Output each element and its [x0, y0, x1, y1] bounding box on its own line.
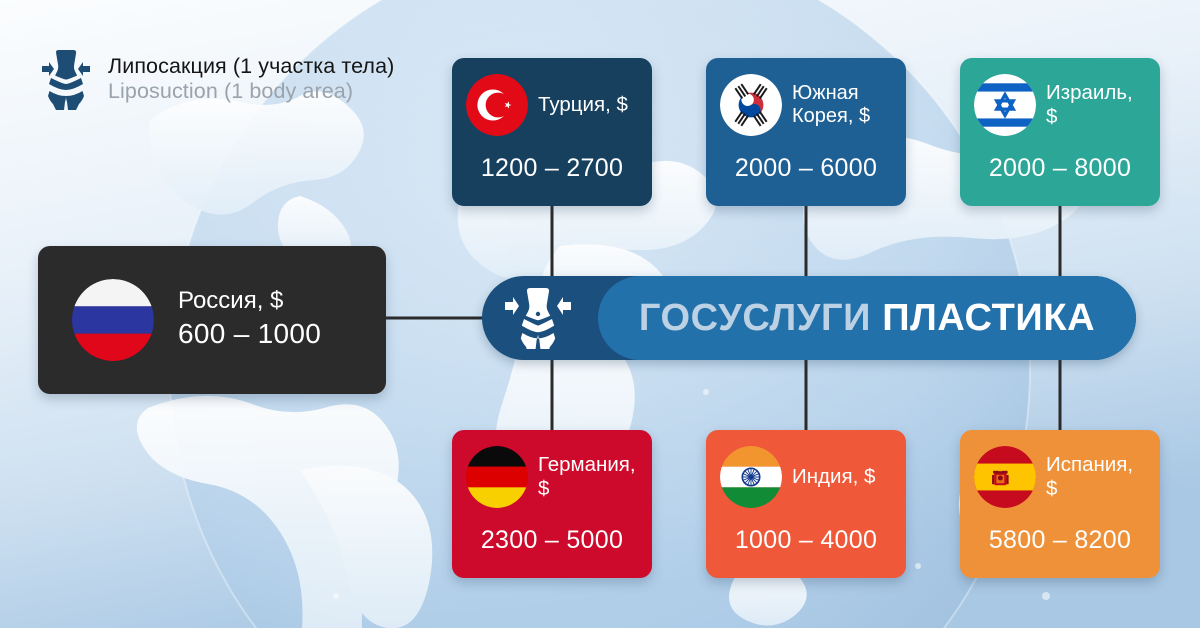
card-country-label: Испания, $ — [1046, 453, 1146, 501]
card-russia[interactable]: Россия, $ 600 – 1000 — [38, 246, 386, 394]
card-spain[interactable]: Испания, $ 5800 – 8200 — [960, 430, 1160, 578]
card-country-label: Турция, $ — [538, 93, 628, 117]
card-price-value: 1000 – 4000 — [720, 526, 892, 555]
card-country-label: Индия, $ — [792, 465, 875, 489]
brand-word-1: ГОСУСЛУГИ — [639, 297, 871, 339]
card-price-value: 2300 – 5000 — [466, 526, 638, 555]
card-price-value: 5800 – 8200 — [974, 526, 1146, 555]
card-price-value: 2000 – 6000 — [720, 154, 892, 183]
card-turkey[interactable]: Турция, $ 1200 – 2700 — [452, 58, 652, 206]
card-price-value: 600 – 1000 — [178, 315, 321, 353]
card-country-label: Германия, $ — [538, 453, 638, 501]
liposuction-body-icon — [38, 48, 94, 110]
flag-israel-icon — [974, 74, 1036, 136]
card-price-value: 2000 – 8000 — [974, 154, 1146, 183]
flag-india-icon — [720, 446, 782, 508]
flag-turkey-icon — [466, 74, 528, 136]
brand-word-2: ПЛАСТИКА — [882, 297, 1095, 339]
banner-light-plate: ГОСУСЛУГИ ПЛАСТИКА — [598, 276, 1136, 360]
brand-title: ГОСУСЛУГИ ПЛАСТИКА — [639, 297, 1095, 340]
card-country-label: Южная Корея, $ — [792, 82, 870, 128]
brand-banner[interactable]: ГОСУСЛУГИ ПЛАСТИКА — [482, 276, 1136, 360]
card-header: Израиль, $ — [974, 74, 1146, 136]
card-germany[interactable]: Германия, $ 2300 – 5000 — [452, 430, 652, 578]
card-header: Турция, $ — [466, 74, 638, 136]
flag-germany-icon — [466, 446, 528, 508]
card-india[interactable]: Индия, $ 1000 – 4000 — [706, 430, 906, 578]
card-country-label: Израиль, $ — [1046, 81, 1146, 129]
page-title-ru: Липосакция (1 участка тела) — [108, 55, 394, 78]
card-header: Германия, $ — [466, 446, 638, 508]
card-price-value: 1200 – 2700 — [466, 154, 638, 183]
header-block: Липосакция (1 участка тела) Liposuction … — [38, 48, 394, 110]
page-title-en: Liposuction (1 body area) — [108, 80, 394, 103]
card-country-label: Россия, $ — [178, 287, 321, 315]
liposuction-body-icon — [504, 287, 572, 349]
flag-russia-icon — [72, 279, 154, 361]
card-header: Южная Корея, $ — [720, 74, 892, 136]
card-header: Индия, $ — [720, 446, 892, 508]
card-header: Испания, $ — [974, 446, 1146, 508]
card-israel[interactable]: Израиль, $ 2000 – 8000 — [960, 58, 1160, 206]
card-south-korea[interactable]: Южная Корея, $ 2000 – 6000 — [706, 58, 906, 206]
flag-south-korea-icon — [720, 74, 782, 136]
flag-spain-icon — [974, 446, 1036, 508]
